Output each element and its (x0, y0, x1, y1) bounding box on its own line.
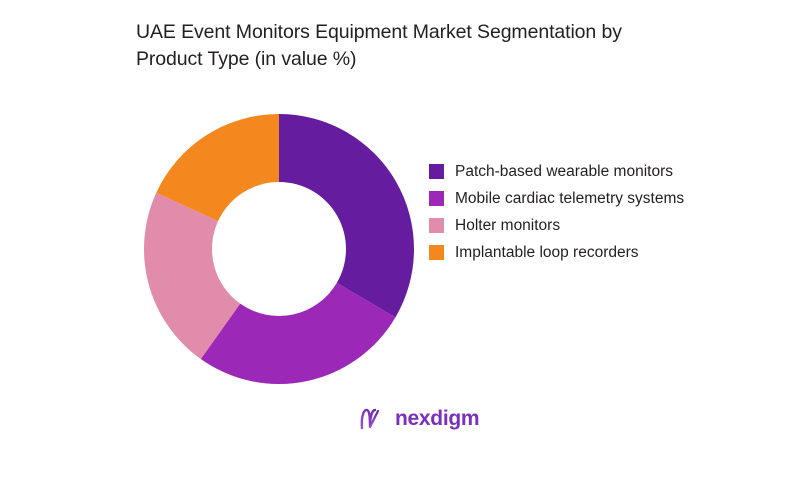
legend-item-implantable-loop-recorders[interactable]: Implantable loop recorders (429, 241, 699, 265)
legend-item-label: Implantable loop recorders (455, 241, 639, 265)
chart-legend: Patch-based wearable monitors Mobile car… (429, 160, 699, 268)
legend-item-label: Holter monitors (455, 214, 560, 238)
chart-title-line-1: UAE Event Monitors Equipment Market Segm… (136, 19, 696, 46)
nexdigm-logo: nexdigm (358, 405, 479, 433)
chart-title-line-2: Product Type (in value %) (136, 46, 696, 73)
legend-swatch-icon (429, 245, 444, 260)
donut-chart (144, 114, 414, 384)
legend-item-label: Mobile cardiac telemetry systems (455, 187, 684, 211)
legend-swatch-icon (429, 191, 444, 206)
donut-slice[interactable] (279, 114, 414, 317)
legend-swatch-icon (429, 164, 444, 179)
legend-item-holter-monitors[interactable]: Holter monitors (429, 214, 699, 238)
donut-slice-group (144, 114, 414, 384)
chart-canvas: UAE Event Monitors Equipment Market Segm… (0, 0, 805, 478)
chart-title: UAE Event Monitors Equipment Market Segm… (136, 19, 696, 73)
donut-chart-svg (144, 114, 414, 384)
legend-item-mobile-cardiac-telemetry-systems[interactable]: Mobile cardiac telemetry systems (429, 187, 699, 211)
nexdigm-wave-n-mark-icon (358, 405, 388, 433)
nexdigm-logo-text: nexdigm (395, 407, 479, 431)
legend-item-patch-based-wearable-monitors[interactable]: Patch-based wearable monitors (429, 160, 699, 184)
legend-swatch-icon (429, 218, 444, 233)
legend-item-label: Patch-based wearable monitors (455, 160, 673, 184)
